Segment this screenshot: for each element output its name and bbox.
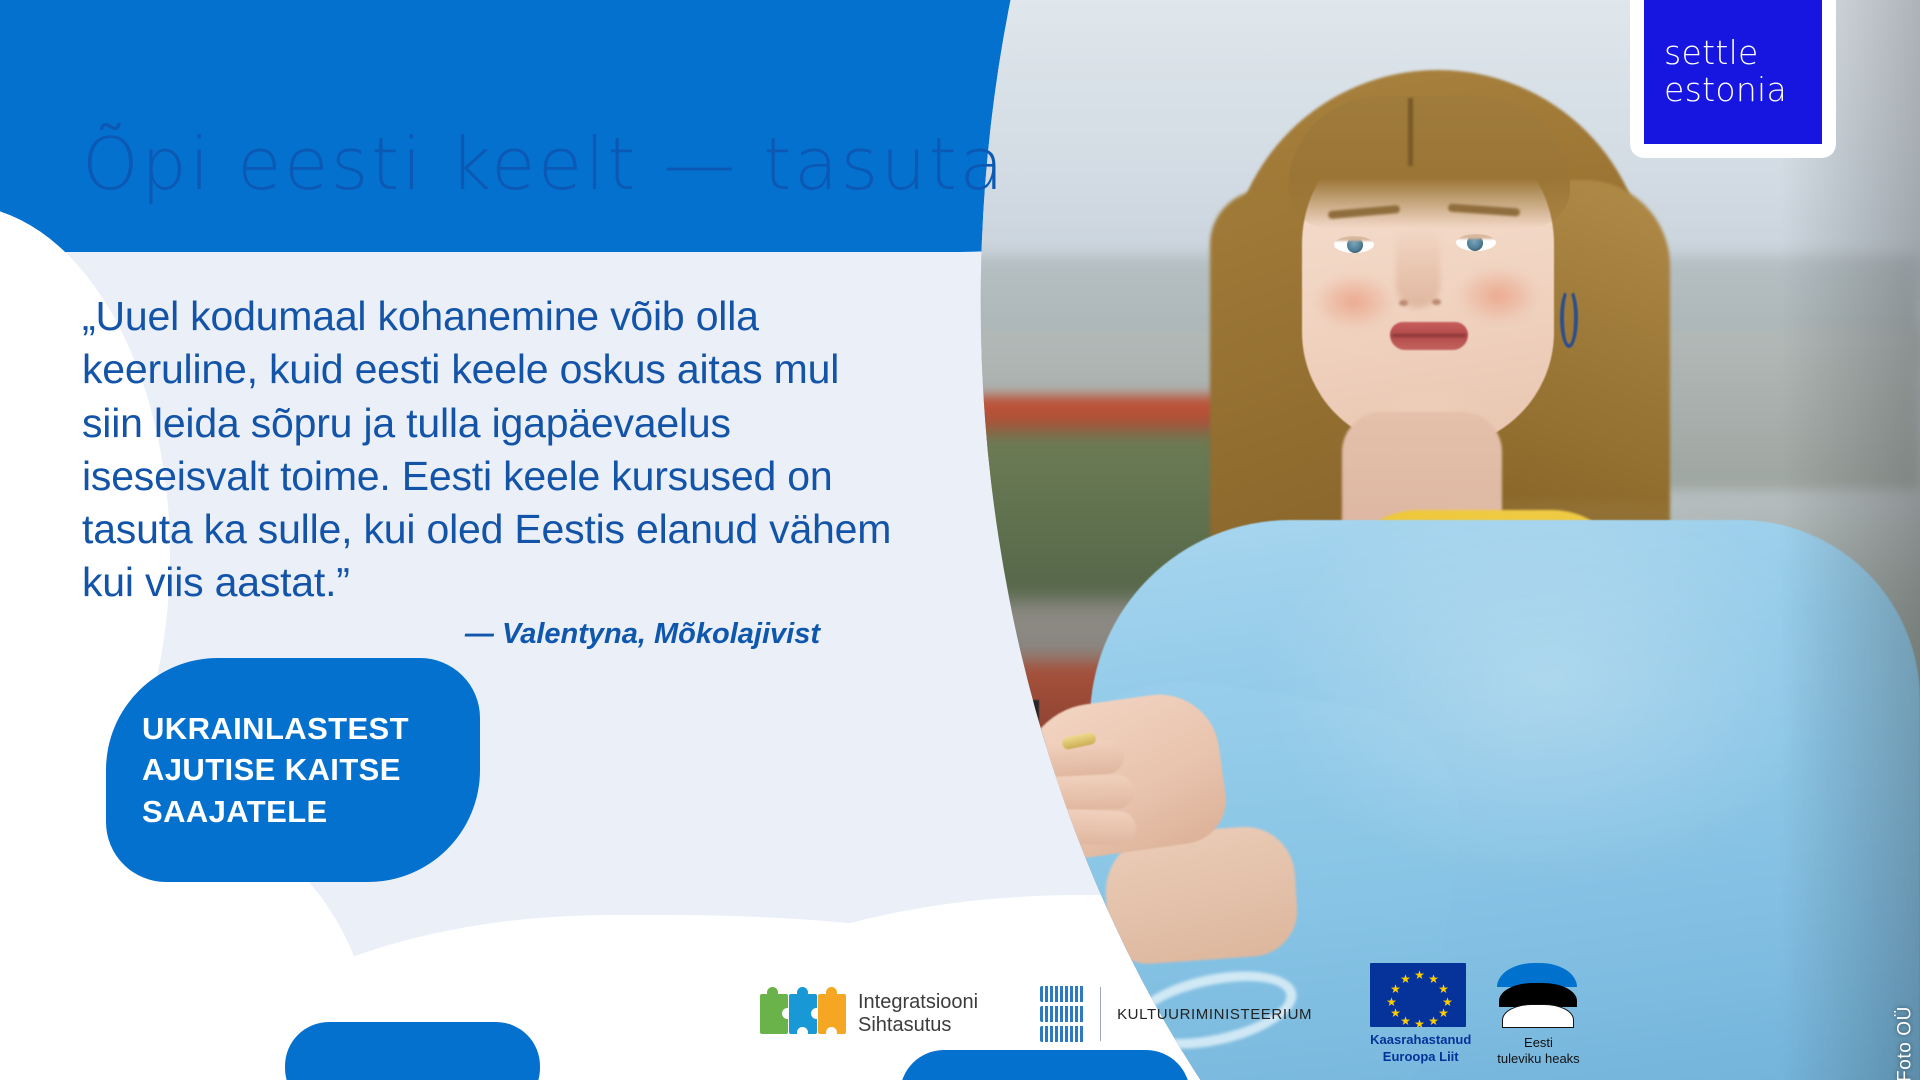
isf-line-1: Integratsiooni <box>858 991 978 1014</box>
page-title: Õpi eesti keelt — tasuta <box>82 122 1006 206</box>
eu-line-1: Kaasrahastanud <box>1370 1032 1471 1048</box>
cheek-left <box>1314 274 1394 329</box>
integration-foundation-text: Integratsiooni Sihtasutus <box>858 991 978 1037</box>
ministry-name: Kultuuriministeerium <box>1117 1006 1312 1023</box>
eu-line-2: Euroopa Liit <box>1370 1049 1471 1065</box>
eu-funding-text: Kaasrahastanud Euroopa Liit <box>1370 1032 1471 1065</box>
settle-estonia-logo[interactable]: settle estonia <box>1630 0 1836 158</box>
eyelid-right <box>1456 234 1496 239</box>
fingernail-2 <box>1020 782 1042 799</box>
ee-line-2: tuleviku heaks <box>1497 1051 1579 1067</box>
finger-3 <box>1035 808 1136 845</box>
ministry-divider <box>1100 987 1101 1041</box>
estonian-coat-of-arms-icon <box>1040 986 1084 1042</box>
hairline <box>1288 96 1570 228</box>
logo-text-line2: estonia <box>1664 72 1822 109</box>
estonian-flag-wave-icon <box>1497 961 1577 1031</box>
testimonial-quote: „Uuel kodumaal kohanemine võib olla keer… <box>82 290 892 610</box>
fingernail-1 <box>1018 748 1040 765</box>
estonia-future-logo[interactable]: Eesti tuleviku heaks <box>1497 961 1579 1068</box>
eyelid-left <box>1334 236 1374 241</box>
lip-line <box>1392 334 1466 337</box>
bottom-blue-tab-left <box>285 1022 540 1080</box>
hair-parting <box>1408 98 1413 166</box>
logo-text-line1: settle <box>1664 35 1822 72</box>
photo-vignette <box>1780 0 1920 1080</box>
fingernail-3 <box>1028 816 1050 833</box>
photo-background <box>910 0 1920 1080</box>
target-audience-badge: UKRAINLASTEST AJUTISE KAITSE SAAJATELE <box>106 658 480 882</box>
estonia-future-text: Eesti tuleviku heaks <box>1497 1035 1579 1068</box>
eye-right <box>1456 234 1496 251</box>
eye-left <box>1334 236 1374 253</box>
photo-credit: Foto: A.G. Foto OÜ <box>1894 1006 1916 1080</box>
badge-text: UKRAINLASTEST AJUTISE KAITSE SAAJATELE <box>106 708 409 832</box>
eu-flag-icon: ★ ★ ★ ★ ★ ★ ★ ★ ★ ★ ★ ★ <box>1370 963 1466 1027</box>
flag-stripe-white <box>1502 1004 1574 1028</box>
puzzle-icon <box>760 994 846 1034</box>
cheek-right <box>1458 268 1538 323</box>
quote-attribution: — Valentyna, Mõkolajivist <box>82 618 902 651</box>
earring <box>1560 288 1578 348</box>
lion-2 <box>1040 1006 1084 1022</box>
lion-1 <box>1040 986 1084 1002</box>
badge-line-1: UKRAINLASTEST <box>142 708 409 749</box>
nostril-right <box>1432 299 1441 305</box>
ee-line-1: Eesti <box>1497 1035 1579 1051</box>
logo-blue-box: settle estonia <box>1644 0 1822 144</box>
ministry-of-culture-logo[interactable]: Kultuuriministeerium <box>1040 986 1312 1042</box>
european-union-logo[interactable]: ★ ★ ★ ★ ★ ★ ★ ★ ★ ★ ★ ★ Kaasrahastanud E… <box>1370 963 1471 1065</box>
isf-line-2: Sihtasutus <box>858 1014 978 1037</box>
photo-clip-shape <box>910 0 1920 1080</box>
portrait-photo <box>910 0 1920 1080</box>
funder-logo-row: Integratsiooni Sihtasutus Kultuuriminist… <box>760 968 1580 1060</box>
finger-2 <box>1029 774 1134 812</box>
nose <box>1396 230 1440 308</box>
integration-foundation-logo[interactable]: Integratsiooni Sihtasutus <box>760 991 978 1037</box>
badge-line-3: SAAJATELE <box>142 791 409 832</box>
nostril-left <box>1399 300 1408 306</box>
badge-line-2: AJUTISE KAITSE <box>142 749 409 790</box>
poster-canvas: settle estonia Õpi eesti keelt — tasuta … <box>0 0 1920 1080</box>
lion-3 <box>1040 1026 1084 1042</box>
